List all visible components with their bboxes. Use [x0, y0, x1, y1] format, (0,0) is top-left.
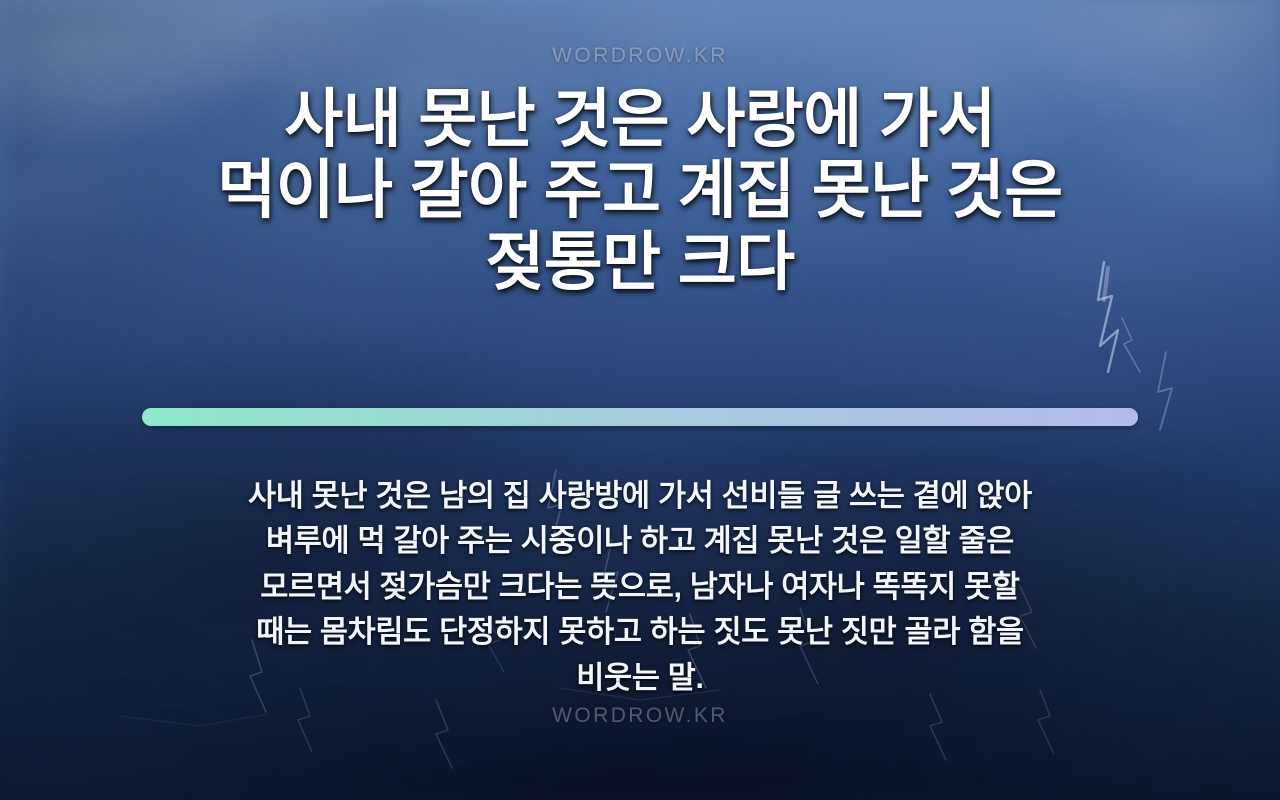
gradient-divider	[142, 408, 1138, 426]
watermark-bottom: WORDROW.KR	[0, 704, 1280, 728]
watermark-top: WORDROW.KR	[0, 44, 1280, 68]
page-title: 사내 못난 것은 사랑에 가서 먹이나 갈아 주고 계집 못난 것은 젖통만 크…	[50, 84, 1230, 298]
definition-text: 사내 못난 것은 남의 집 사랑방에 가서 선비들 글 쓰는 곁에 앉아 벼루에…	[130, 474, 1150, 701]
proverb-card: WORDROW.KR 사내 못난 것은 사랑에 가서 먹이나 갈아 주고 계집 …	[0, 0, 1280, 800]
